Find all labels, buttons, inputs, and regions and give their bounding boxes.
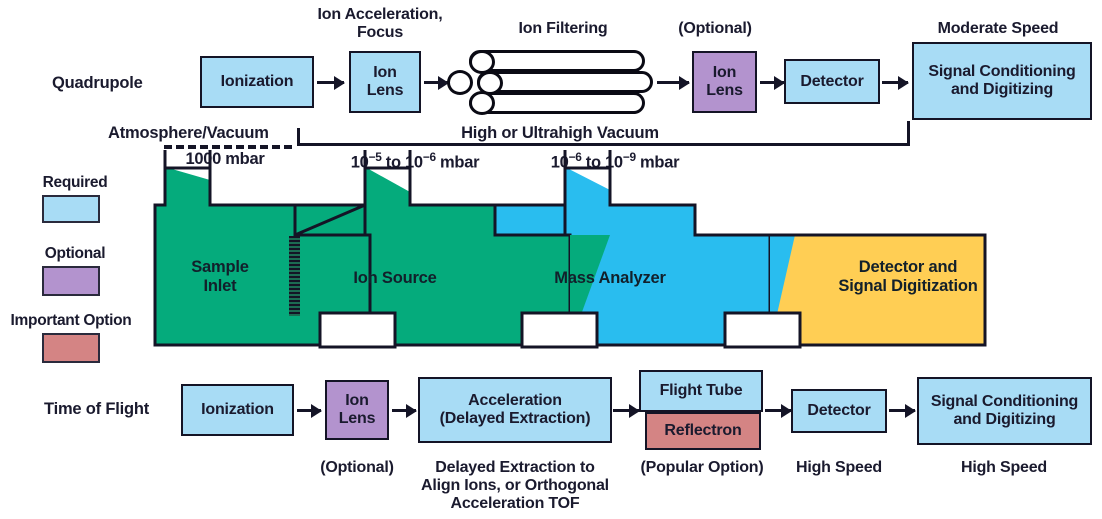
- box-tof-reflectron[interactable]: Reflectron: [645, 412, 761, 450]
- caption-tof-signal-speed: High Speed: [948, 459, 1060, 477]
- orifice-hatch-lines: [289, 236, 300, 316]
- funnel-label-ion-source: Ion Source: [300, 269, 490, 288]
- box-tof-ionization[interactable]: Ionization: [181, 384, 294, 436]
- arrow-tof-3: [613, 409, 639, 412]
- arrow-tof-2: [392, 409, 416, 412]
- funnel-label-mass-analyzer: Mass Analyzer: [515, 269, 705, 288]
- box-tof-ion-lens[interactable]: Ion Lens: [325, 380, 389, 440]
- quad-cap-bottom: [469, 91, 495, 115]
- arrow-tof-1: [297, 409, 321, 412]
- quad-rod-mid: [477, 71, 653, 93]
- legend-label-required: Required: [8, 174, 142, 192]
- legend-label-optional: Optional: [8, 245, 142, 263]
- divider-atmosphere-dashed: [164, 145, 292, 149]
- arrow-tof-5: [889, 409, 915, 412]
- caption-moderate-speed: Moderate Speed: [898, 20, 1098, 38]
- quad-cap-left: [447, 70, 473, 95]
- row-label-quadrupole: Quadrupole: [52, 74, 143, 93]
- arrow-quad-2: [424, 81, 448, 84]
- caption-ion-acceleration-focus: Ion Acceleration, Focus: [290, 6, 470, 42]
- quad-rod-top: [469, 50, 645, 72]
- box-tof-acceleration[interactable]: Acceleration (Delayed Extraction): [418, 377, 612, 443]
- legend-swatch-optional: [42, 266, 100, 296]
- box-quad-ionization[interactable]: Ionization: [200, 56, 314, 108]
- caption-tof-optional: (Optional): [292, 459, 422, 477]
- bottom-notch-1: [320, 313, 395, 347]
- legend-swatch-required: [42, 195, 100, 223]
- quadrupole-rods: [447, 50, 661, 114]
- box-tof-flight-tube[interactable]: Flight Tube: [639, 370, 763, 412]
- box-tof-detector[interactable]: Detector: [791, 389, 887, 433]
- caption-tof-popular-option: (Popular Option): [627, 459, 777, 477]
- arrow-tof-4: [765, 409, 791, 412]
- box-tof-signal-conditioning[interactable]: Signal Conditioning and Digitizing: [917, 377, 1092, 445]
- bracket-horizontal: [297, 143, 910, 146]
- bottom-notch-3: [725, 313, 800, 347]
- arrow-quad-1: [317, 81, 344, 84]
- funnel-label-sample-inlet: Sample Inlet: [160, 258, 280, 296]
- bracket-right-tick: [907, 121, 910, 146]
- box-quad-ion-lens-2[interactable]: Ion Lens: [692, 51, 757, 113]
- row-label-time-of-flight: Time of Flight: [44, 400, 149, 419]
- box-quad-ion-lens-1[interactable]: Ion Lens: [349, 51, 421, 113]
- caption-tof-detector-speed: High Speed: [783, 459, 895, 477]
- box-quad-signal-conditioning[interactable]: Signal Conditioning and Digitizing: [912, 42, 1092, 120]
- legend-label-important-option: Important Option: [0, 312, 142, 330]
- arrow-quad-3: [657, 81, 689, 84]
- caption-optional-ion-lens: (Optional): [650, 20, 780, 38]
- bottom-notch-2: [522, 313, 597, 347]
- caption-ion-filtering: Ion Filtering: [468, 20, 658, 38]
- funnel-label-detector-digitization: Detector and Signal Digitization: [800, 258, 1016, 296]
- quad-rod-bot: [469, 92, 645, 114]
- caption-tof-delayed-extraction: Delayed Extraction to Align Ions, or Ort…: [405, 459, 625, 514]
- legend-swatch-important-option: [42, 333, 100, 363]
- label-atmosphere-vacuum: Atmosphere/Vacuum: [108, 124, 298, 143]
- label-high-ultrahigh-vacuum: High or Ultrahigh Vacuum: [410, 124, 710, 143]
- box-quad-detector[interactable]: Detector: [784, 59, 880, 104]
- arrow-quad-5: [882, 81, 908, 84]
- arrow-quad-4: [760, 81, 784, 84]
